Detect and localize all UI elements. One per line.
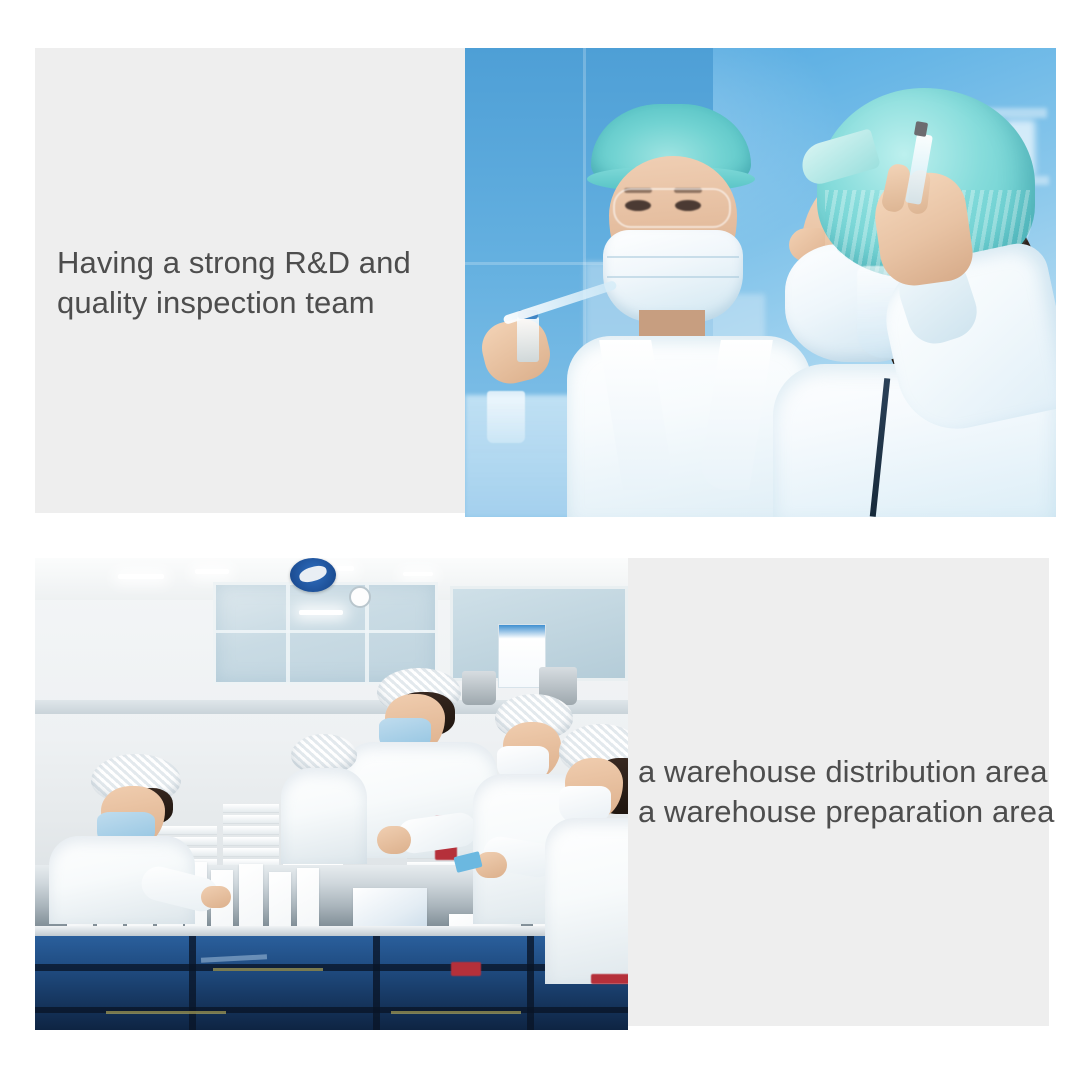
red-item-on-table [451, 962, 481, 976]
lab-worker-profile [765, 78, 1056, 517]
lab-quality-inspection-photo [465, 48, 1056, 517]
lab-held-vial-cap [914, 121, 928, 137]
window-mullion [216, 630, 435, 633]
worker-hand [377, 826, 411, 854]
lab-sample-vial [517, 316, 539, 362]
rnd-caption-line-1: Having a strong R&D and [57, 243, 411, 283]
ceiling-light [118, 574, 164, 579]
frame-yellow-stripe [106, 1011, 226, 1014]
frame-bar [189, 936, 196, 1030]
frame-yellow-stripe [391, 1011, 521, 1014]
ceiling-light [403, 572, 433, 576]
rnd-caption: Having a strong R&D and quality inspecti… [57, 243, 411, 322]
page-canvas: Having a strong R&D and quality inspecti… [0, 0, 1080, 1080]
warehouse-worker [281, 734, 367, 864]
lab-worker-mask-fold [607, 256, 739, 258]
warehouse-caption-line-1: a warehouse distribution area [638, 752, 1054, 792]
frame-bar [527, 936, 534, 1030]
warehouse-worker [49, 754, 209, 924]
frame-highlight [201, 955, 267, 963]
warehouse-worker [545, 724, 628, 984]
warehouse-caption: a warehouse distribution area a warehous… [638, 752, 1054, 831]
frame-bar [373, 936, 380, 1030]
warehouse-packing-photo [35, 558, 628, 1030]
warehouse-caption-line-2: a warehouse preparation area [638, 792, 1054, 832]
window-interior-light [299, 610, 343, 615]
worker-coat [281, 768, 367, 864]
red-garment-detail [591, 974, 628, 984]
window-mullion [286, 585, 290, 683]
frame-bar [35, 964, 628, 971]
worker-coat [545, 818, 628, 984]
ceiling-light [195, 569, 229, 574]
frame-yellow-stripe [213, 968, 323, 971]
blue-circular-sign [290, 558, 336, 592]
lab-beaker [487, 391, 525, 443]
rnd-caption-line-2: quality inspection team [57, 283, 411, 323]
lab-worker-glasses [613, 188, 731, 228]
table-blue-frame [35, 936, 628, 1030]
worker-hand [201, 886, 231, 908]
lab-worker-mask-fold [607, 276, 739, 278]
